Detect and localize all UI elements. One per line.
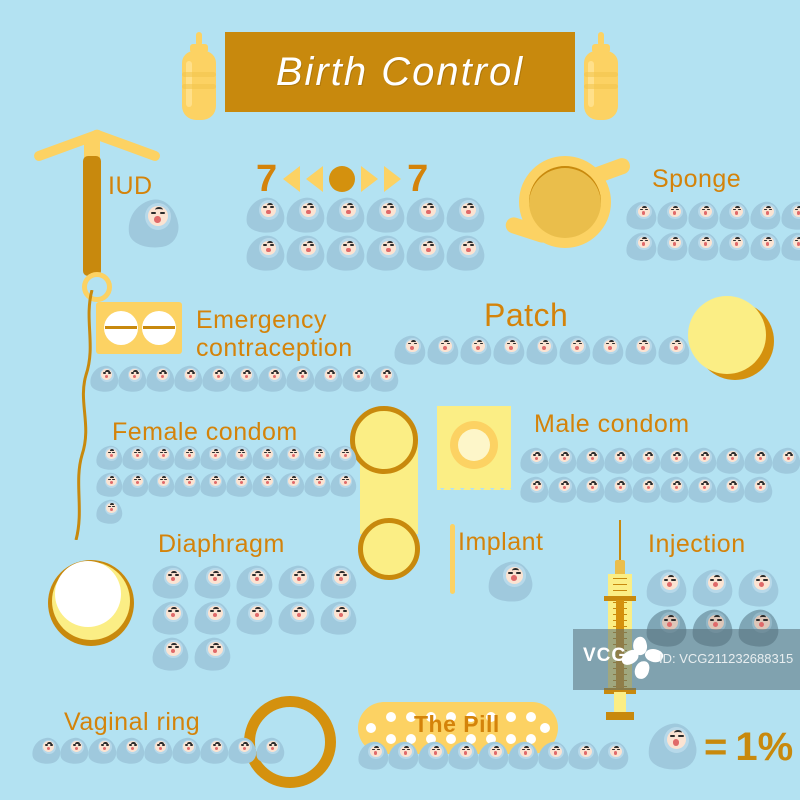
implant-rod-icon [450,524,455,594]
baby-icon [304,446,330,470]
baby-icon [278,602,314,635]
method-label-iud: IUD [108,172,153,200]
baby-icon [406,198,444,233]
baby-icon [744,477,772,503]
baby-icon [194,602,230,635]
baby-icon [230,366,258,392]
baby-icon [278,566,314,599]
baby-icon [632,448,660,474]
baby-icon [568,742,598,770]
baby-row [626,202,800,230]
baby-icon [278,446,304,470]
baby-icon [152,638,188,671]
baby-icon [688,448,716,474]
method-label-sponge: Sponge [652,165,741,193]
pill-pack-icon [96,302,182,354]
baby-icon [320,566,356,599]
baby-icon [448,742,478,770]
page-title-banner: Birth Control [225,32,575,112]
baby-icon [286,236,324,271]
baby-row [96,446,356,470]
method-label-patch: Patch [484,298,568,334]
baby-icon [330,446,356,470]
baby-icon [226,473,252,497]
baby-icon [781,202,800,230]
baby-icon [246,236,284,271]
baby-icon [118,366,146,392]
baby-row [394,336,689,365]
female-condom-icon [350,406,430,586]
baby-icon [258,366,286,392]
syringe-icon [600,520,644,725]
ovum-icon [329,166,355,192]
baby-icon [96,500,122,524]
baby-icon [538,742,568,770]
sponge-icon [505,150,645,260]
baby-icon [688,233,718,261]
infographic-canvas: Birth Control IUD 7 7 [0,0,800,800]
baby-icon [96,473,122,497]
baby-icon [719,233,749,261]
baby-icon [32,738,60,764]
baby-icon [148,446,174,470]
baby-icon [146,366,174,392]
baby-icon [304,473,330,497]
baby-group-male-condom [520,448,800,506]
baby-icon [152,566,188,599]
sterilization-right-seven: 7 [407,160,428,198]
baby-icon [278,473,304,497]
baby-icon [406,236,444,271]
baby-icon [200,473,226,497]
baby-icon [314,366,342,392]
baby-icon [750,233,780,261]
baby-group-diaphragm [152,566,356,674]
baby-icon [658,336,689,365]
baby-row [152,566,356,599]
baby-group-iud [128,200,178,248]
baby-icon [128,200,178,248]
baby-icon [625,336,656,365]
baby-icon [548,448,576,474]
baby-group-sterilization [246,198,484,274]
baby-group-emergency [90,366,398,395]
baby-icon [750,202,780,230]
baby-row [152,638,356,671]
baby-icon [388,742,418,770]
baby-icon [781,233,800,261]
baby-icon [418,742,448,770]
baby-icon [716,477,744,503]
baby-icon [286,366,314,392]
baby-icon [688,477,716,503]
baby-icon [60,738,88,764]
baby-bottle-icon-left [178,32,220,120]
baby-icon [370,366,398,392]
baby-group-patch [394,336,689,368]
baby-icon [236,566,272,599]
baby-group-the-pill [358,742,628,773]
baby-icon [632,477,660,503]
baby-icon [200,446,226,470]
baby-row [358,742,628,770]
baby-icon [493,336,524,365]
method-label-the-pill: The Pill [414,712,500,738]
method-label-emergency: Emergency contraception [196,306,366,362]
baby-icon [330,473,356,497]
baby-icon [660,477,688,503]
baby-icon [286,198,324,233]
baby-row [520,477,800,503]
baby-icon [394,336,425,365]
baby-icon [326,236,364,271]
baby-row [488,562,532,602]
baby-icon [520,477,548,503]
diaphragm-icon [48,560,138,650]
baby-row [626,233,800,261]
method-label-vaginal-ring: Vaginal ring [64,708,200,736]
male-condom-icon [437,406,511,502]
baby-icon [604,448,632,474]
baby-icon [174,446,200,470]
arrow-right-icon [361,166,378,192]
legend-value: 1% [735,725,793,770]
legend: = 1% [648,724,793,770]
baby-icon [446,198,484,233]
baby-row [246,236,484,271]
baby-icon [202,366,230,392]
baby-row [646,570,778,607]
watermark-overlay: VCG ID: VCG211232688315 [573,629,800,690]
baby-icon [246,198,284,233]
watermark-flower-icon [621,637,661,679]
baby-icon [520,448,548,474]
baby-icon [256,738,284,764]
baby-icon [488,562,532,602]
baby-icon [559,336,590,365]
baby-icon [236,602,272,635]
baby-icon [172,738,200,764]
baby-icon [576,448,604,474]
baby-row [152,602,356,635]
patch-disc-icon [688,296,780,386]
method-label-male-condom: Male condom [534,410,690,438]
sterilization-left-seven: 7 [256,160,277,198]
baby-icon [738,570,778,607]
baby-icon [174,473,200,497]
baby-icon [427,336,458,365]
baby-icon [648,724,696,770]
arrow-left-icon [283,166,300,192]
baby-row [520,448,800,474]
baby-icon [548,477,576,503]
baby-icon [358,742,388,770]
baby-group-implant [488,562,532,605]
baby-icon [320,602,356,635]
watermark-id: ID: VCG211232688315 [659,651,793,666]
baby-group-sponge [626,202,800,264]
baby-icon [96,446,122,470]
baby-icon [88,738,116,764]
baby-group-vaginal-ring [32,738,284,767]
baby-icon [692,570,732,607]
baby-icon [200,738,228,764]
arrow-right-icon [384,166,401,192]
baby-icon [598,742,628,770]
baby-icon [688,202,718,230]
baby-icon [460,336,491,365]
baby-icon [342,366,370,392]
baby-icon [604,477,632,503]
baby-icon [716,448,744,474]
sterilization-icon: 7 7 [256,160,428,198]
baby-icon [144,738,172,764]
baby-row [32,738,284,764]
baby-icon [116,738,144,764]
baby-icon [326,198,364,233]
baby-icon [152,602,188,635]
baby-icon [90,366,118,392]
method-label-implant: Implant [458,528,543,556]
baby-group-female-condom [96,446,356,527]
baby-icon [194,638,230,671]
arrow-left-icon [306,166,323,192]
baby-icon [744,448,772,474]
page-title: Birth Control [276,50,524,95]
method-label-injection: Injection [648,530,746,558]
baby-bottle-icon-right [580,32,622,120]
baby-row [246,198,484,233]
baby-icon [252,473,278,497]
baby-icon [252,446,278,470]
baby-icon [478,742,508,770]
method-label-diaphragm: Diaphragm [158,530,285,558]
baby-icon [657,202,687,230]
baby-icon [626,233,656,261]
baby-icon [122,446,148,470]
baby-row [96,500,356,524]
baby-icon [719,202,749,230]
baby-icon [122,473,148,497]
baby-row [96,473,356,497]
baby-icon [226,446,252,470]
baby-icon [660,448,688,474]
baby-icon [508,742,538,770]
baby-icon [366,198,404,233]
baby-icon [526,336,557,365]
method-label-female-condom: Female condom [112,418,298,446]
baby-icon [576,477,604,503]
baby-icon [772,448,800,474]
baby-row [90,366,398,392]
baby-icon [194,566,230,599]
baby-icon [646,570,686,607]
baby-icon [626,202,656,230]
baby-icon [174,366,202,392]
baby-icon [366,236,404,271]
baby-icon [592,336,623,365]
legend-equals: = [704,725,727,770]
baby-icon [228,738,256,764]
baby-icon [446,236,484,271]
baby-icon [657,233,687,261]
baby-icon [148,473,174,497]
